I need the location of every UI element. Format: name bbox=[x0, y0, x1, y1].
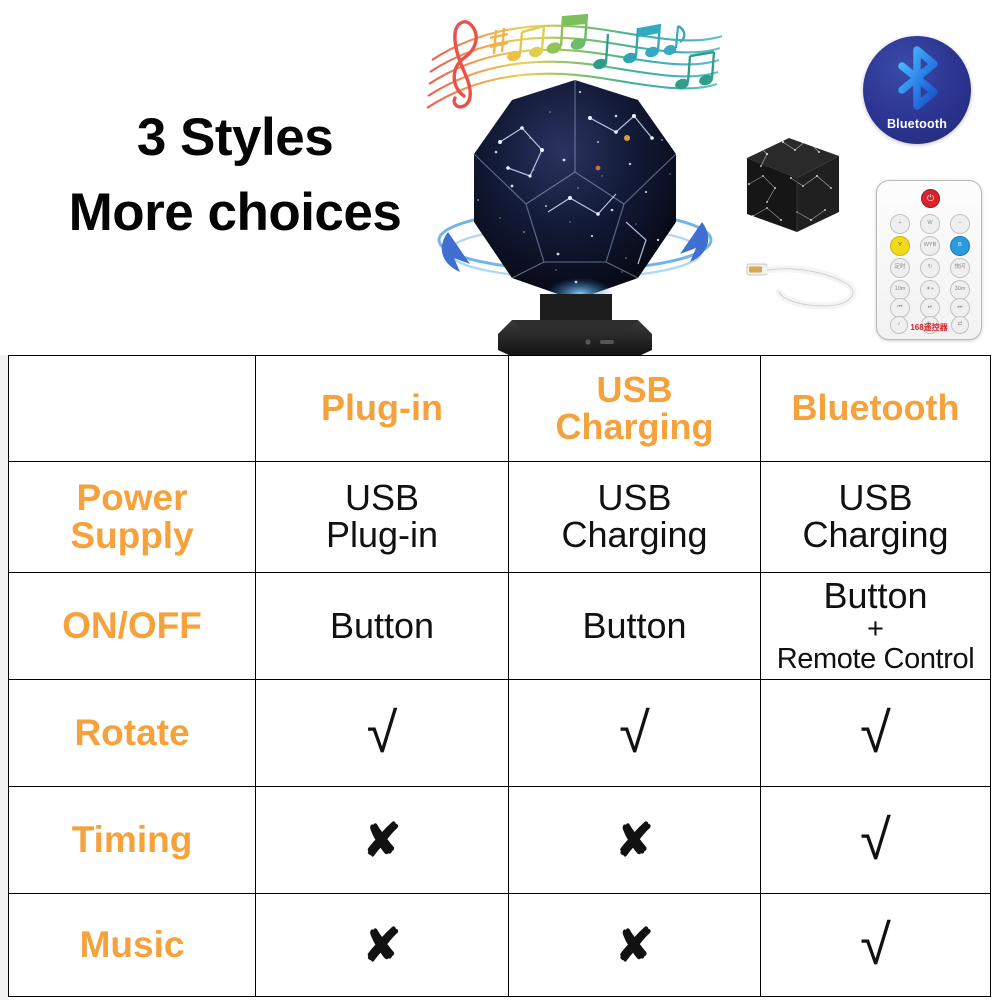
star-projector-lamp bbox=[430, 72, 720, 355]
feature-label-rotate: Rotate bbox=[9, 680, 256, 787]
remote-button-10min: 10m bbox=[890, 280, 910, 300]
cell-power-bt-line1: USB bbox=[764, 480, 987, 517]
remote-button-w: W bbox=[920, 214, 940, 234]
hero-banner: 3 Styles More choices bbox=[0, 0, 1000, 355]
cell-power-plug-in: USB Plug-in bbox=[256, 462, 509, 573]
usb-cable bbox=[745, 248, 865, 318]
cell-music-plug-in: ✘ bbox=[256, 894, 509, 997]
bluetooth-badge: Bluetooth bbox=[863, 36, 971, 144]
remote-button-b: B bbox=[950, 236, 970, 256]
cell-rotate-plug-in: √ bbox=[256, 680, 509, 787]
feature-power-line1: Power bbox=[76, 477, 187, 518]
table-row-on-off: ON/OFF Button Button Button + Remote Con… bbox=[9, 573, 991, 680]
cell-onoff-bluetooth: Button + Remote Control bbox=[761, 573, 991, 680]
remote-model-label: 168遥控器 bbox=[877, 322, 981, 333]
cell-power-bluetooth: USB Charging bbox=[761, 462, 991, 573]
cell-onoff-plug-in: Button bbox=[256, 573, 509, 680]
remote-button-next: ⏭ bbox=[950, 298, 970, 318]
cell-onoff-usb-charging: Button bbox=[509, 573, 761, 680]
header-usb-line2: Charging bbox=[556, 406, 714, 447]
remote-control: ⏻ + W − Y WYB B 定时 ↻ 快闪 10m ☀+ 30m ⏮ ⏯ ⏭… bbox=[876, 180, 982, 340]
remote-button-flash: 快闪 bbox=[950, 258, 970, 278]
comparison-table: Plug-in USB Charging Bluetooth Power Sup… bbox=[8, 355, 991, 997]
cell-power-plug-in-line2: Plug-in bbox=[259, 517, 505, 554]
header-usb-line1: USB bbox=[596, 369, 672, 410]
feature-label-on-off: ON/OFF bbox=[9, 573, 256, 680]
table-row-power-supply: Power Supply USB Plug-in USB Charging US… bbox=[9, 462, 991, 573]
cell-power-usb-line2: Charging bbox=[512, 517, 757, 554]
remote-button-play: ⏯ bbox=[920, 298, 940, 318]
constellation-gift-box bbox=[737, 132, 847, 242]
bluetooth-icon bbox=[886, 46, 948, 110]
cell-music-usb-charging: ✘ bbox=[509, 894, 761, 997]
cell-onoff-bt-plus: + bbox=[764, 615, 987, 644]
headline-line-1: 3 Styles bbox=[137, 108, 333, 167]
remote-button-bright-up: ☀+ bbox=[920, 280, 940, 300]
feature-label-timing: Timing bbox=[9, 787, 256, 894]
cell-power-plug-in-line1: USB bbox=[259, 480, 505, 517]
headline-line-2: More choices bbox=[35, 175, 435, 250]
table-row-rotate: Rotate √ √ √ bbox=[9, 680, 991, 787]
feature-power-line2: Supply bbox=[70, 515, 193, 556]
header-cell-plug-in: Plug-in bbox=[256, 356, 509, 462]
cell-power-bt-line2: Charging bbox=[764, 517, 987, 554]
header-cell-usb-charging: USB Charging bbox=[509, 356, 761, 462]
cell-onoff-bt-line1: Button bbox=[764, 578, 987, 615]
feature-label-power-supply: Power Supply bbox=[9, 462, 256, 573]
table-row-timing: Timing ✘ ✘ √ bbox=[9, 787, 991, 894]
header-cell-bluetooth: Bluetooth bbox=[761, 356, 991, 462]
remote-power-icon: ⏻ bbox=[921, 189, 940, 208]
cell-onoff-bt-line2: Remote Control bbox=[764, 644, 987, 674]
header-cell-blank bbox=[9, 356, 256, 462]
cell-timing-plug-in: ✘ bbox=[256, 787, 509, 894]
page-headline: 3 Styles More choices bbox=[35, 100, 435, 251]
cell-power-usb-charging: USB Charging bbox=[509, 462, 761, 573]
table-header-row: Plug-in USB Charging Bluetooth bbox=[9, 356, 991, 462]
remote-button-prev: ⏮ bbox=[890, 298, 910, 318]
remote-button-plus: + bbox=[890, 214, 910, 234]
cell-timing-usb-charging: ✘ bbox=[509, 787, 761, 894]
cell-power-usb-line1: USB bbox=[512, 480, 757, 517]
remote-button-y: Y bbox=[890, 236, 910, 256]
remote-button-timer: 定时 bbox=[890, 258, 910, 278]
remote-button-30min: 30m bbox=[950, 280, 970, 300]
cell-rotate-usb-charging: √ bbox=[509, 680, 761, 787]
remote-button-minus: − bbox=[950, 214, 970, 234]
bluetooth-badge-label: Bluetooth bbox=[863, 117, 971, 131]
table-row-music: Music ✘ ✘ √ bbox=[9, 894, 991, 997]
cell-music-bluetooth: √ bbox=[761, 894, 991, 997]
cell-timing-bluetooth: √ bbox=[761, 787, 991, 894]
remote-button-rotate: ↻ bbox=[920, 258, 940, 278]
feature-label-music: Music bbox=[9, 894, 256, 997]
cell-rotate-bluetooth: √ bbox=[761, 680, 991, 787]
remote-button-wyb: WYB bbox=[920, 236, 940, 256]
